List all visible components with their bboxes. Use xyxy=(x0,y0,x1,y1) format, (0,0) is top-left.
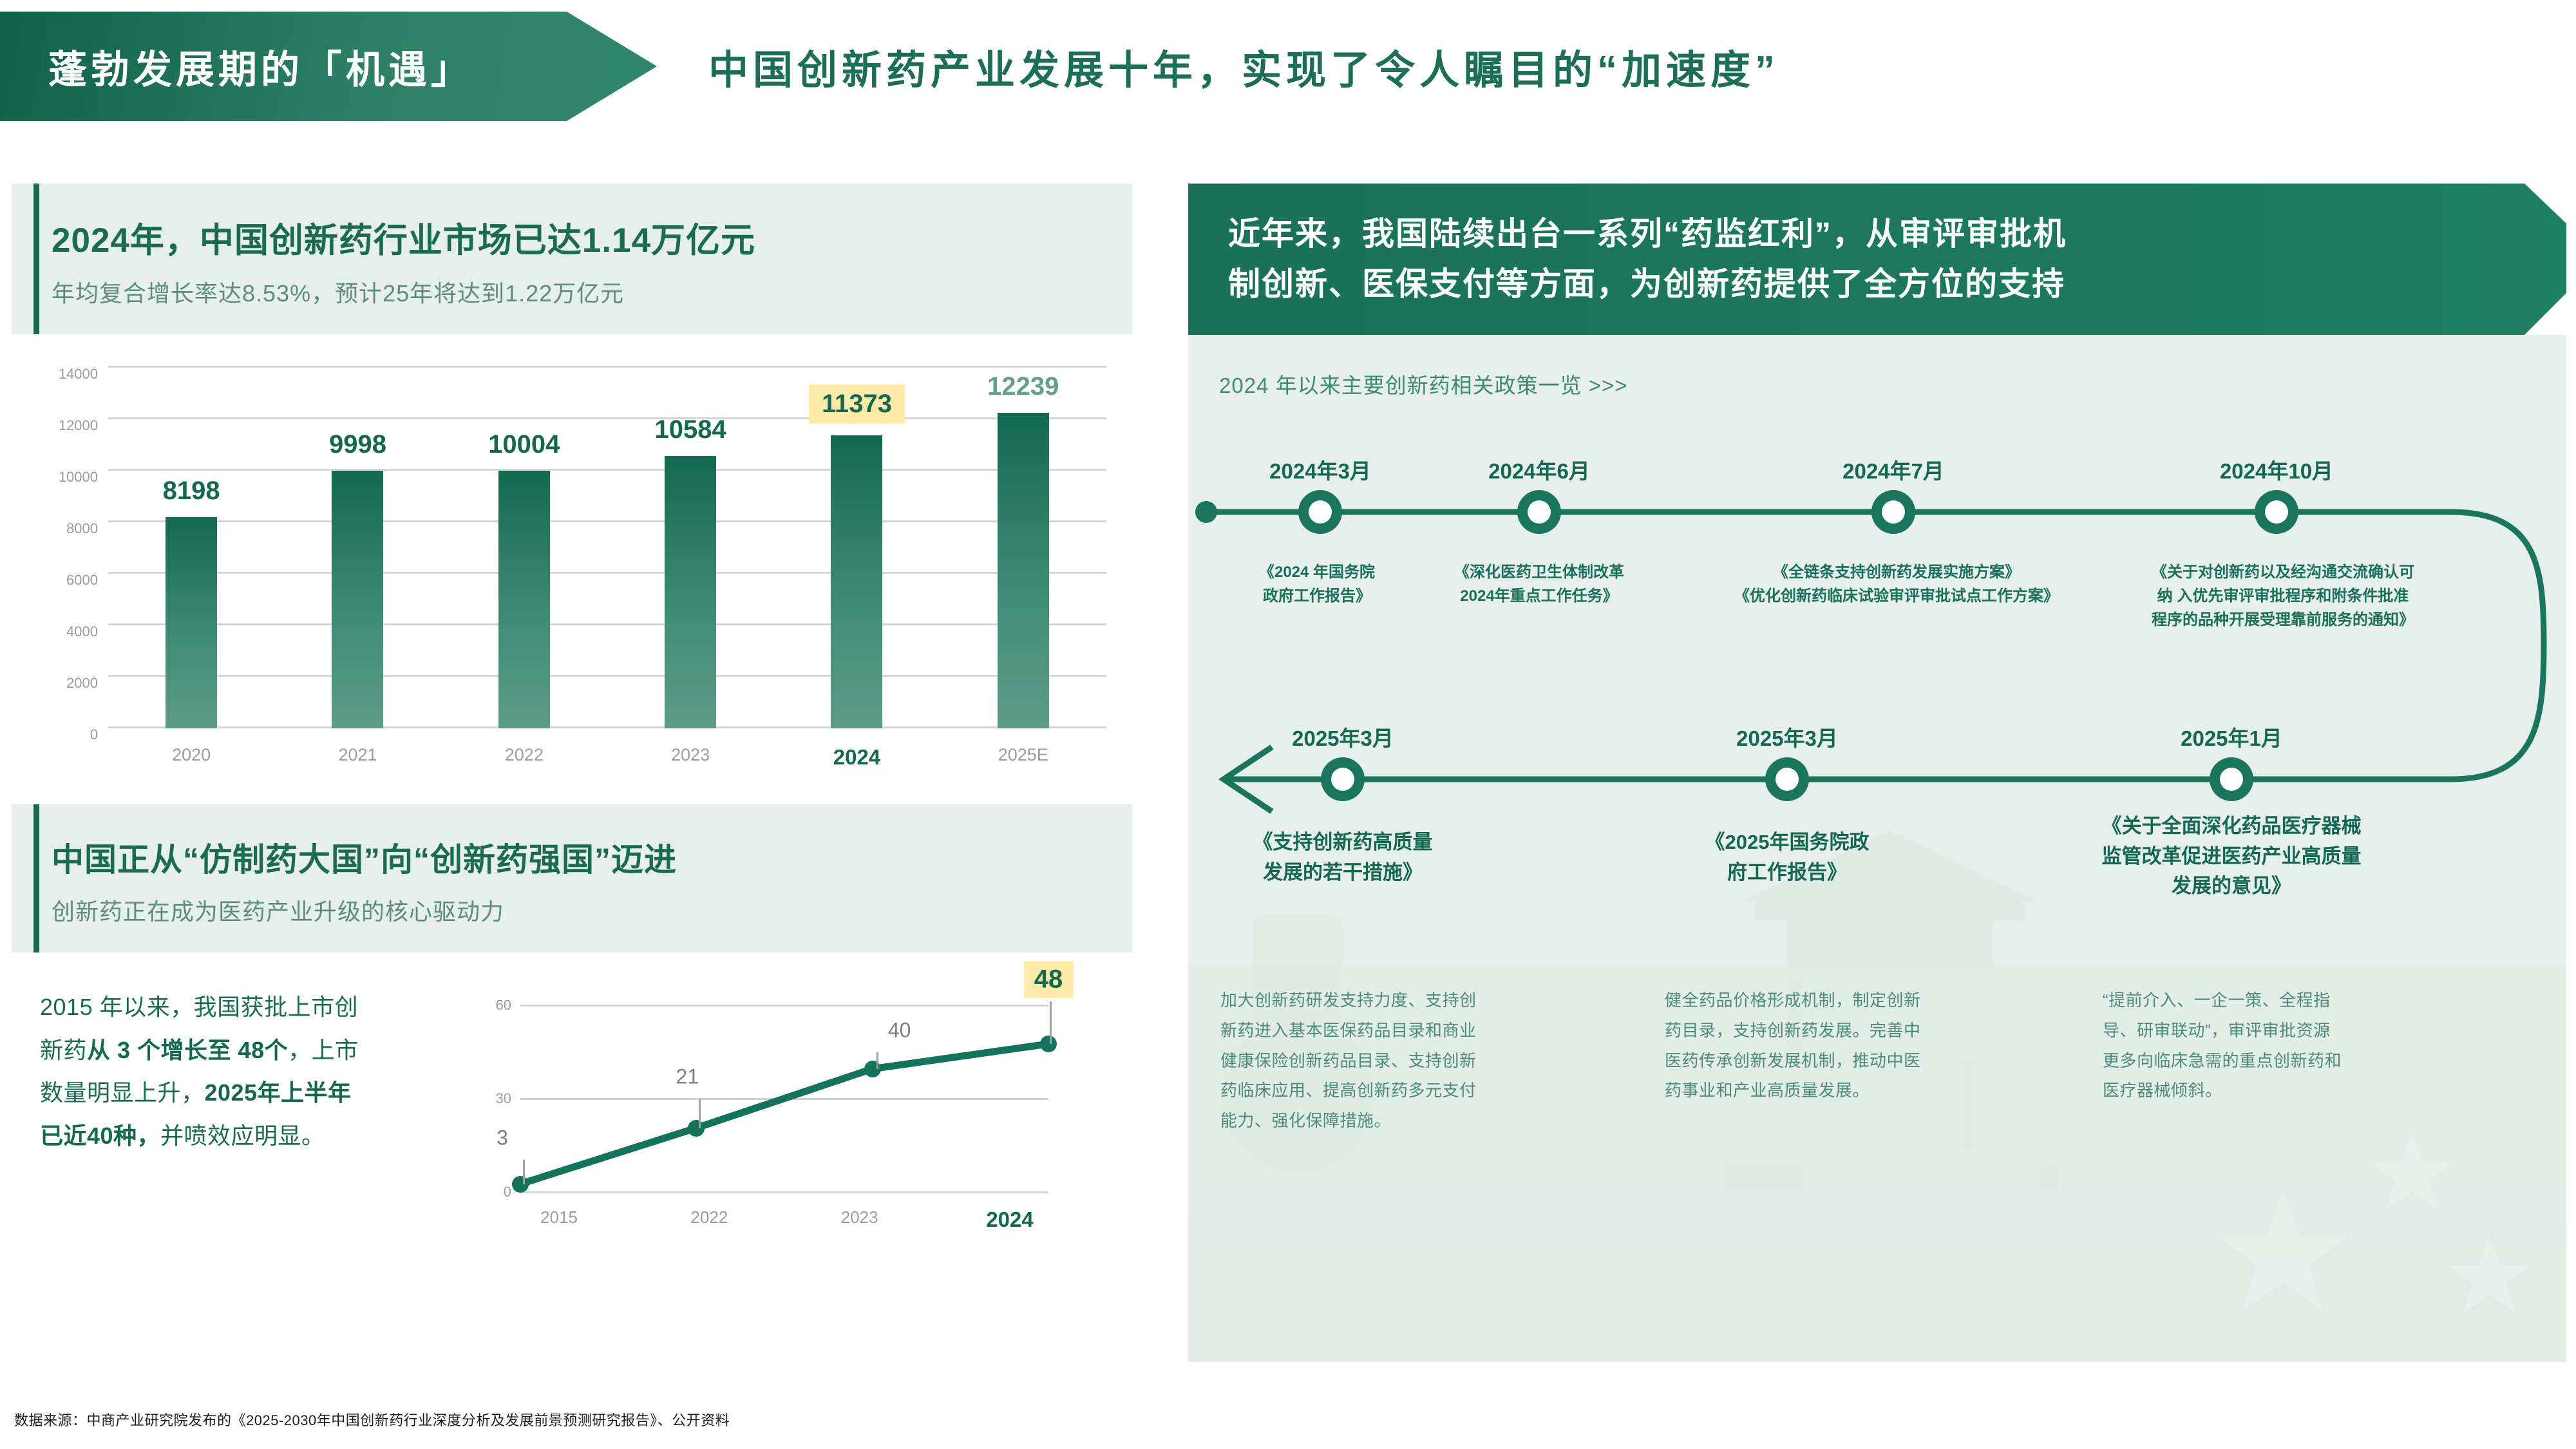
timeline-top-date-1: 2024年6月 xyxy=(1488,454,1590,485)
timeline-top-docs-3: 《关于对创新药以及经沟通交流确认可 纳 入优先审评审批程序和附条件批准 程序的品… xyxy=(2152,560,2414,632)
bar-chart-y-tick-label: 12000 xyxy=(59,417,98,419)
market-size-subtitle: 年均复合增长率达8.53%，预计25年将达到1.22万亿元 xyxy=(52,275,1132,308)
line-chart-point[interactable] xyxy=(1040,1036,1057,1052)
policy-body-line: 药目录，支持创新药发展。完善中 xyxy=(1665,1016,2064,1046)
line-chart-point[interactable] xyxy=(688,1120,705,1137)
bar-chart-bar[interactable] xyxy=(998,413,1049,728)
timeline-bottom-date-2: 2025年1月 xyxy=(2181,721,2282,752)
bar-chart-bar[interactable] xyxy=(665,456,716,728)
bar-chart-y-tick-label: 6000 xyxy=(66,572,98,573)
doc-line: 2024年重点工作任务》 xyxy=(1454,584,1624,608)
paragraph-emph-2: 2025年上半年 xyxy=(205,1079,352,1106)
right-column: 近年来，我国陆续出台一系列“药监红利”，从审评审批机 制创新、医保支付等方面，为… xyxy=(1188,184,2566,1362)
timeline-top-date-3: 2024年10月 xyxy=(2220,454,2333,485)
policy-body-line: 导、研审联动”，审评审批资源 xyxy=(2103,1016,2515,1046)
timeline-top-docs-1: 《深化医药卫生体制改革 2024年重点工作任务》 xyxy=(1454,560,1624,608)
line-chart-plot-area: 030603214048 xyxy=(520,1007,1048,1193)
line-chart-point[interactable] xyxy=(864,1061,881,1077)
policy-body-line: 加大创新药研发支持力度、支持创 xyxy=(1220,985,1620,1016)
bar-chart-column[interactable]: 10004 xyxy=(453,368,595,728)
bar-chart-y-tick-label: 8000 xyxy=(66,520,98,522)
policy-body-line: 健全药品价格形成机制，制定创新 xyxy=(1665,985,2064,1016)
innovation-power-subtitle: 创新药正在成为医药产业升级的核心驱动力 xyxy=(52,893,1132,927)
bar-chart-y-tick-label: 10000 xyxy=(59,469,98,470)
paragraph-line-4b: 并喷效应明显。 xyxy=(160,1122,325,1149)
bar-chart-value-label: 12239 xyxy=(987,372,1059,401)
header-tag-label: 蓬勃发展期的「机遇」 xyxy=(48,39,473,95)
timeline-bottom-date-0: 2025年3月 xyxy=(1292,721,1394,752)
bar-chart-y-tick-label: 14000 xyxy=(59,366,98,367)
bar-chart-value-label: 9998 xyxy=(329,430,386,459)
bar-chart-bar[interactable] xyxy=(498,471,550,728)
bar-chart-column[interactable]: 10584 xyxy=(620,368,761,728)
policy-banner-line-2: 制创新、医保支付等方面，为创新药提供了全方位的支持 xyxy=(1228,260,2566,310)
doc-line: 《全链条支持创新药发展实施方案》 xyxy=(1734,560,2059,584)
timeline-bottom-title-1: 《2025年国务院政 府工作报告》 xyxy=(1705,828,1870,887)
line-chart-point[interactable] xyxy=(512,1176,529,1193)
line-chart-y-tick-label: 60 xyxy=(496,997,511,1014)
bar-chart-column[interactable]: 11373 xyxy=(786,368,927,728)
page-header: 蓬勃发展期的「机遇」 中国创新药产业发展十年，实现了令人瞩目的“加速度” xyxy=(0,0,2576,132)
policy-title-line: 《2025年国务院政 xyxy=(1705,828,1870,858)
policy-body-line: 医药传承创新发展机制，推动中医 xyxy=(1665,1046,2064,1076)
bar-chart-plot-area: 0200040006000800010000120001400081989998… xyxy=(108,368,1106,728)
bar-chart-value-label: 10004 xyxy=(488,430,560,459)
page-title: 中国创新药产业发展十年，实现了令人瞩目的“加速度” xyxy=(708,12,1779,121)
line-chart-leader-line xyxy=(1050,1001,1052,1044)
bar-chart-column[interactable]: 12239 xyxy=(952,368,1094,728)
line-chart-x-axis: 2015202220232024 xyxy=(520,1207,1048,1232)
policy-banner-line-1: 近年来，我国陆续出台一系列“药监红利”，从审评审批机 xyxy=(1228,209,2566,260)
line-chart-value-label: 21 xyxy=(676,1065,699,1088)
line-chart-x-tick-label: 2023 xyxy=(821,1207,898,1232)
policy-title-line: 《支持创新药高质量 xyxy=(1253,828,1433,858)
bar-chart-bar[interactable] xyxy=(831,435,882,728)
paragraph-emph-3: 已近40种， xyxy=(40,1122,160,1149)
doc-line: 政府工作报告》 xyxy=(1259,584,1375,608)
doc-line: 《2024 年国务院 xyxy=(1259,560,1375,584)
line-chart-x-tick-label: 2024 xyxy=(971,1207,1048,1232)
paragraph-emph-1: 从 3 个增长至 48个 xyxy=(87,1037,288,1063)
line-chart-y-tick-label: 0 xyxy=(504,1184,511,1200)
policy-title-line: 监管改革促进医药产业高质量 xyxy=(2102,842,2362,872)
bar-chart-value-label: 8198 xyxy=(163,477,220,506)
paragraph-line-1: 2015 年以来，我国获批上市创 xyxy=(40,994,358,1020)
bar-chart-x-tick-label: 2024 xyxy=(786,745,927,770)
approved-drugs-line-chart: 030603214048 2015202220232024 xyxy=(456,974,1100,1251)
bar-chart-bar[interactable] xyxy=(332,471,383,728)
bar-chart-value-label: 10584 xyxy=(655,415,726,444)
line-chart-leader-line xyxy=(876,1052,878,1069)
policy-body-line: 能力、强化保障措施。 xyxy=(1220,1106,1620,1136)
bar-chart-bars: 8198999810004105841137312239 xyxy=(108,368,1106,728)
line-chart-series xyxy=(520,1007,1048,1193)
bar-chart-x-tick-label: 2021 xyxy=(287,745,428,770)
policy-timeline-panel: 2024 年以来主要创新药相关政策一览 >>> xyxy=(1188,335,2566,1362)
timeline-top-date-0: 2024年3月 xyxy=(1269,454,1371,485)
doc-line: 《优化创新药临床试验审评审批试点工作方案》 xyxy=(1734,584,2059,608)
paragraph-line-2a: 新药 xyxy=(40,1037,87,1063)
line-chart-value-label: 3 xyxy=(497,1126,508,1150)
line-chart-y-tick-label: 30 xyxy=(496,1090,511,1107)
header-tag-chevron: 蓬勃发展期的「机遇」 xyxy=(0,12,657,121)
approved-drugs-paragraph: 2015 年以来，我国获批上市创 新药从 3 个增长至 48个，上市 数量明显上… xyxy=(12,974,456,1251)
policy-title-line: 府工作报告》 xyxy=(1705,858,1870,888)
infographic-page: 蓬勃发展期的「机遇」 中国创新药产业发展十年，实现了令人瞩目的“加速度” 202… xyxy=(0,0,2576,1449)
timeline-bottom-body-0: 加大创新药研发支持力度、支持创 新药进入基本医保药品目录和商业 健康保险创新药品… xyxy=(1220,985,1620,1136)
timeline-top-docs-0: 《2024 年国务院 政府工作报告》 xyxy=(1259,560,1375,608)
policy-banner: 近年来，我国陆续出台一系列“药监红利”，从审评审批机 制创新、医保支付等方面，为… xyxy=(1188,184,2566,335)
policy-body-line: 医疗器械倾斜。 xyxy=(2103,1075,2515,1106)
line-chart-x-tick-label: 2022 xyxy=(670,1207,748,1232)
bar-chart-x-axis: 202020212022202320242025E xyxy=(108,745,1106,770)
bar-chart-y-tick-label: 0 xyxy=(90,726,98,728)
innovation-power-title: 中国正从“仿制药大国”向“创新药强国”迈进 xyxy=(52,834,1132,880)
policy-body-line: “提前介入、一企一策、全程指 xyxy=(2103,985,2515,1016)
policy-title-line: 发展的若干措施》 xyxy=(1253,858,1433,888)
timeline-bottom-title-2: 《关于全面深化药品医疗器械 监管改革促进医药产业高质量 发展的意见》 xyxy=(2102,811,2362,902)
policy-body-line: 药事业和产业高质量发展。 xyxy=(1665,1075,2064,1106)
policy-body-line: 药临床应用、提高创新药多元支付 xyxy=(1220,1075,1620,1106)
paragraph-line-3a: 数量明显上升， xyxy=(40,1079,205,1106)
line-chart-leader-line xyxy=(523,1160,525,1184)
policy-body-line: 健康保险创新药品目录、支持创新 xyxy=(1220,1046,1620,1076)
bar-chart-bar[interactable] xyxy=(166,517,217,728)
source-note: 数据来源：中商产业研究院发布的《2025-2030年中国创新药行业深度分析及发展… xyxy=(14,1409,730,1430)
timeline-top-date-2: 2024年7月 xyxy=(1842,454,1944,485)
timeline-top-docs-2: 《全链条支持创新药发展实施方案》 《优化创新药临床试验审评审批试点工作方案》 xyxy=(1734,560,2059,608)
line-chart-value-label: 40 xyxy=(888,1018,911,1042)
bar-chart-value-label: 11373 xyxy=(809,384,905,424)
innovation-power-card: 中国正从“仿制药大国”向“创新药强国”迈进 创新药正在成为医药产业升级的核心驱动… xyxy=(12,804,1132,952)
policy-title-line: 发展的意见》 xyxy=(2102,871,2362,902)
bar-chart-y-tick-label: 2000 xyxy=(66,675,98,676)
bar-chart-x-tick-label: 2025E xyxy=(952,745,1094,770)
left-column: 2024年，中国创新药行业市场已达1.14万亿元 年均复合增长率达8.53%，预… xyxy=(12,184,1132,1251)
bar-chart-x-tick-label: 2023 xyxy=(620,745,761,770)
line-chart-value-label: 48 xyxy=(1024,961,1074,998)
doc-line: 《关于对创新药以及经沟通交流确认可 xyxy=(2152,560,2414,584)
bar-chart-column[interactable]: 8198 xyxy=(120,368,262,728)
line-chart-x-tick-label: 2015 xyxy=(520,1207,598,1232)
timeline-bottom-body-2: “提前介入、一企一策、全程指 导、研审联动”，审评审批资源 更多向临床急需的重点… xyxy=(2103,985,2515,1106)
market-size-card: 2024年，中国创新药行业市场已达1.14万亿元 年均复合增长率达8.53%，预… xyxy=(12,184,1132,334)
market-size-bar-chart: 0200040006000800010000120001400081989998… xyxy=(12,348,1132,786)
timeline-bottom-date-1: 2025年3月 xyxy=(1736,721,1838,752)
bar-chart-x-tick-label: 2020 xyxy=(120,745,262,770)
bar-chart-y-tick-label: 4000 xyxy=(66,623,98,625)
doc-line: 《深化医药卫生体制改革 xyxy=(1454,560,1624,584)
line-chart-leader-line xyxy=(699,1099,701,1128)
approved-drugs-section: 2015 年以来，我国获批上市创 新药从 3 个增长至 48个，上市 数量明显上… xyxy=(12,974,1132,1251)
bar-chart-x-tick-label: 2022 xyxy=(453,745,595,770)
paragraph-line-2c: ，上市 xyxy=(288,1037,359,1063)
doc-line: 程序的品种开展受理靠前服务的通知》 xyxy=(2152,608,2414,632)
policy-body-line: 新药进入基本医保药品目录和商业 xyxy=(1220,1016,1620,1046)
timeline-bottom-title-0: 《支持创新药高质量 发展的若干措施》 xyxy=(1253,828,1433,887)
doc-line: 纳 入优先审评审批程序和附条件批准 xyxy=(2152,584,2414,608)
policy-body-line: 更多向临床急需的重点创新药和 xyxy=(2103,1046,2515,1076)
bar-chart-column[interactable]: 9998 xyxy=(287,368,428,728)
policy-title-line: 《关于全面深化药品医疗器械 xyxy=(2102,811,2362,842)
market-size-title: 2024年，中国创新药行业市场已达1.14万亿元 xyxy=(52,213,1132,262)
timeline-bottom-body-1: 健全药品价格形成机制，制定创新 药目录，支持创新药发展。完善中 医药传承创新发展… xyxy=(1665,985,2064,1106)
